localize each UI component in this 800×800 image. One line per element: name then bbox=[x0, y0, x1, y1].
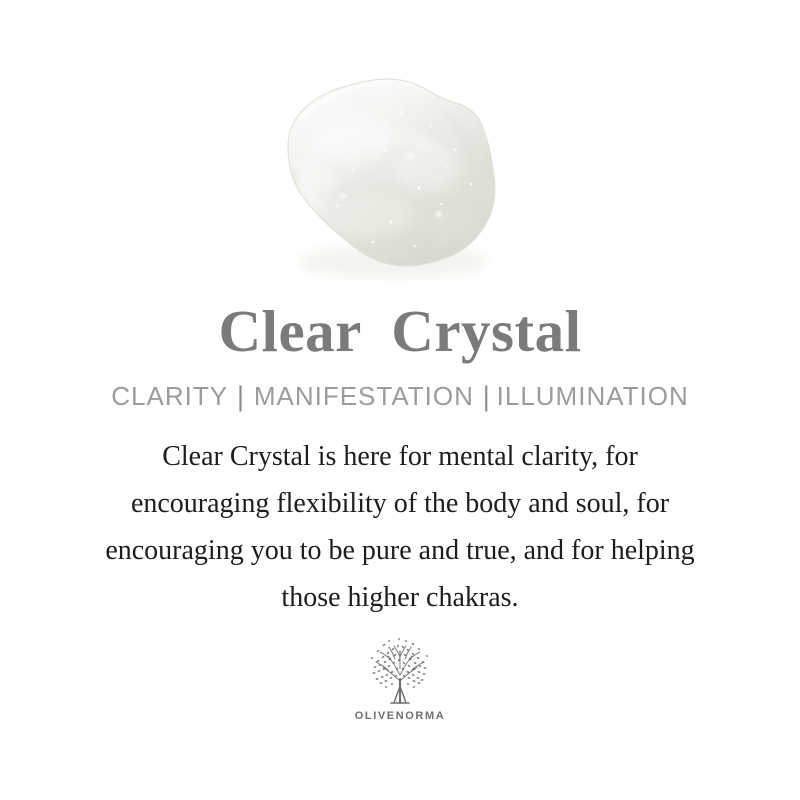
keyword-list: CLARITY | MANIFESTATION | ILLUMINATION bbox=[111, 382, 689, 411]
crystal-body bbox=[243, 46, 523, 281]
description-line: encouraging flexibility of the body and … bbox=[40, 480, 760, 527]
keyword-clarity: CLARITY bbox=[111, 382, 228, 411]
clear-crystal-stone-icon bbox=[243, 46, 523, 281]
product-image-area bbox=[0, 0, 800, 300]
page-title: Clear Crystal bbox=[218, 300, 581, 362]
description-line: those higher chakras. bbox=[40, 574, 760, 621]
crystal-image bbox=[243, 46, 523, 281]
description-line: Clear Crystal is here for mental clarity… bbox=[40, 433, 760, 480]
keyword-illumination: ILLUMINATION bbox=[497, 382, 689, 411]
product-card: Clear Crystal CLARITY | MANIFESTATION | … bbox=[0, 0, 800, 800]
keyword-separator: | bbox=[474, 381, 497, 412]
keyword-manifestation: MANIFESTATION bbox=[254, 382, 474, 411]
brand-name: OLIVENORMA bbox=[355, 710, 446, 722]
olive-tree-icon bbox=[358, 635, 442, 707]
description-line: encouraging you to be pure and true, and… bbox=[40, 527, 760, 574]
brand-logo: OLIVENORMA bbox=[340, 635, 460, 722]
product-description: Clear Crystal is here for mental clarity… bbox=[40, 433, 760, 621]
keyword-separator: | bbox=[228, 381, 254, 412]
